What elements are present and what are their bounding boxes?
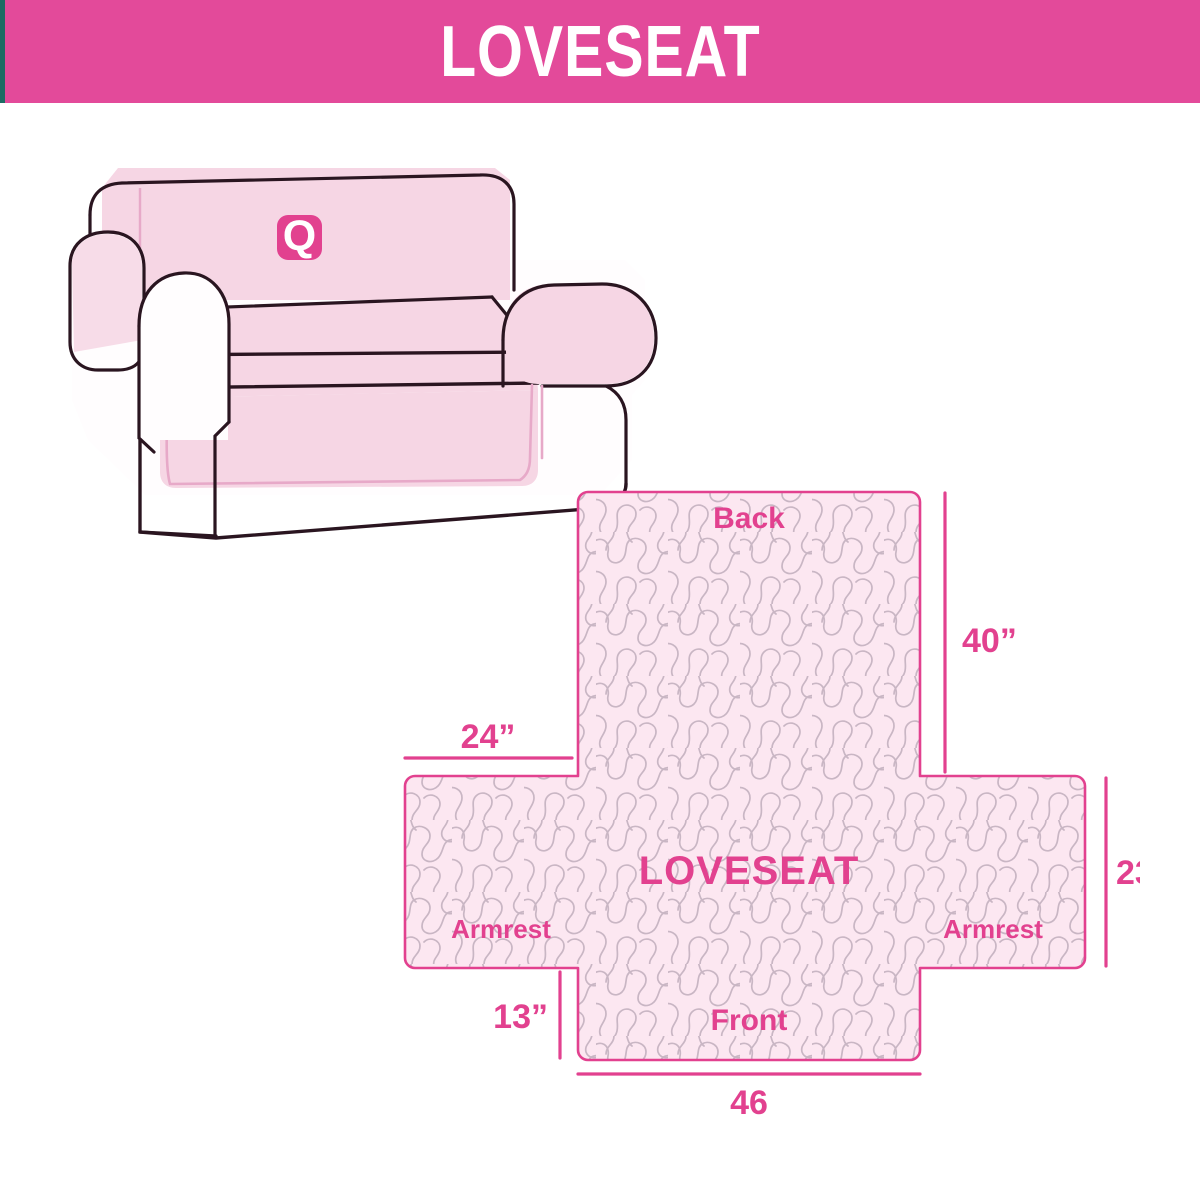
dimension-value-13: 13” xyxy=(493,998,548,1036)
panel-label-center: LOVESEAT xyxy=(639,849,860,893)
dimension-value-24: 24” xyxy=(461,718,516,756)
header-banner: LOVESEAT xyxy=(0,0,1200,103)
dimension-value-40: 40” xyxy=(962,622,1017,660)
sofa-left-arm-inner xyxy=(140,272,228,440)
panel-label-armrest-right: Armrest xyxy=(943,914,1043,944)
header-accent-edge xyxy=(0,0,5,103)
dimension-seat-depth: 23” xyxy=(1106,778,1140,966)
logo-letter: Q xyxy=(283,212,316,260)
panel-label-front: Front xyxy=(711,1004,788,1037)
panel-label-armrest-left: Armrest xyxy=(451,914,551,944)
page-title: LOVESEAT xyxy=(440,16,760,88)
dimension-armrest-width: 24” xyxy=(405,718,572,758)
product-size-diagram-page: LOVESEAT xyxy=(0,0,1200,1200)
cover-shape-group xyxy=(405,492,1085,1060)
dimension-front-height: 13” xyxy=(493,972,560,1058)
sofa-left-arm-cover xyxy=(72,234,142,352)
cover-flat-diagram: Back LOVESEAT Armrest Armrest Front 40” … xyxy=(380,460,1140,1140)
brand-logo: Q xyxy=(277,212,322,260)
dimension-back-height: 40” xyxy=(945,493,1017,772)
dimension-value-23: 23” xyxy=(1116,854,1140,892)
panel-label-back: Back xyxy=(713,502,785,535)
sofa-right-arm-shape xyxy=(506,284,654,384)
cover-cross-shape xyxy=(405,492,1085,1060)
dimension-value-46: 46 xyxy=(730,1084,768,1122)
dimension-seat-width: 46 xyxy=(578,1074,920,1122)
